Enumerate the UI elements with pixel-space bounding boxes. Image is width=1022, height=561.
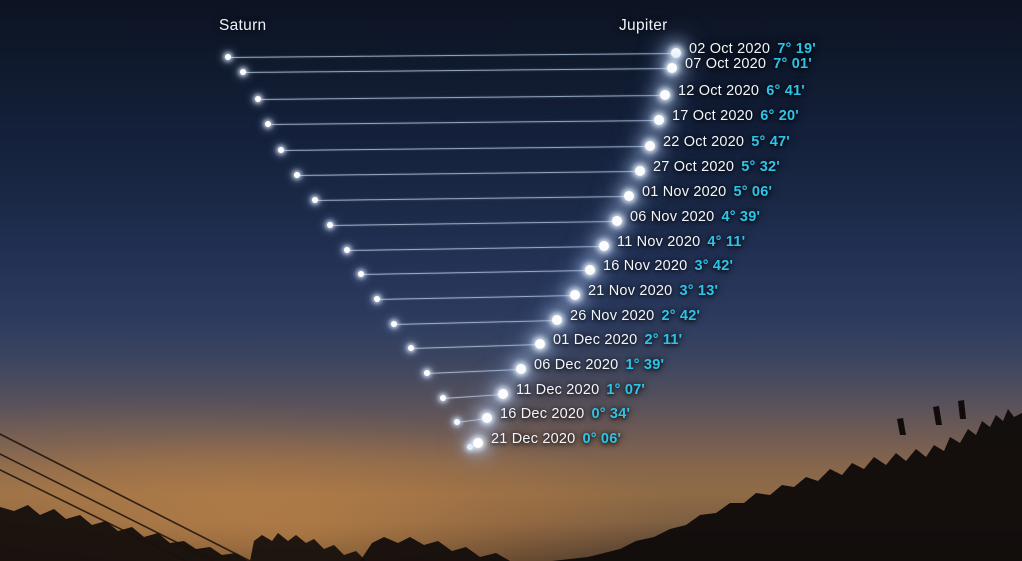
angular-separation: 2° 11' bbox=[644, 332, 682, 348]
observation-label: 06 Dec 20201° 39' bbox=[534, 357, 664, 373]
jupiter-marker bbox=[473, 438, 483, 448]
observation-label: 01 Dec 20202° 11' bbox=[553, 332, 682, 348]
observation-date: 22 Oct 2020 bbox=[663, 134, 744, 150]
jupiter-marker bbox=[635, 166, 645, 176]
connector-line bbox=[315, 196, 629, 201]
observation-label: 06 Nov 20204° 39' bbox=[630, 209, 760, 225]
observation-date: 12 Oct 2020 bbox=[678, 83, 759, 99]
saturn-marker bbox=[294, 172, 300, 178]
connector-line bbox=[377, 295, 575, 300]
jupiter-marker bbox=[667, 63, 677, 73]
angular-separation: 7° 01' bbox=[773, 56, 812, 72]
saturn-marker bbox=[255, 96, 261, 102]
angular-separation: 0° 06' bbox=[582, 431, 621, 447]
angular-separation: 5° 06' bbox=[733, 184, 772, 200]
jupiter-marker bbox=[585, 265, 595, 275]
observation-date: 07 Oct 2020 bbox=[685, 56, 766, 72]
connector-line bbox=[228, 53, 676, 58]
angular-separation: 4° 39' bbox=[721, 209, 760, 225]
saturn-marker bbox=[358, 271, 364, 277]
observation-date: 21 Nov 2020 bbox=[588, 283, 672, 299]
jupiter-marker bbox=[645, 141, 655, 151]
observation-date: 06 Dec 2020 bbox=[534, 357, 618, 373]
saturn-marker bbox=[374, 296, 380, 302]
jupiter-marker bbox=[612, 216, 622, 226]
jupiter-marker bbox=[671, 48, 681, 58]
connector-line bbox=[394, 320, 557, 325]
jupiter-marker bbox=[498, 389, 508, 399]
angular-separation: 5° 32' bbox=[741, 159, 780, 175]
jupiter-marker bbox=[482, 413, 492, 423]
angular-separation: 1° 07' bbox=[606, 382, 645, 398]
observation-date: 01 Dec 2020 bbox=[553, 332, 637, 348]
jupiter-marker bbox=[599, 241, 609, 251]
saturn-marker bbox=[454, 419, 460, 425]
saturn-marker bbox=[278, 147, 284, 153]
jupiter-marker bbox=[552, 315, 562, 325]
observation-label: 07 Oct 20207° 01' bbox=[685, 56, 812, 72]
observation-date: 26 Nov 2020 bbox=[570, 308, 654, 324]
sky-scene: Saturn Jupiter 02 Oct 20207° 19'07 Oct 2… bbox=[0, 0, 1022, 561]
connector-line bbox=[361, 270, 590, 275]
observation-date: 17 Oct 2020 bbox=[672, 108, 753, 124]
observation-label: 17 Oct 20206° 20' bbox=[672, 108, 799, 124]
jupiter-marker bbox=[660, 90, 670, 100]
observation-label: 21 Dec 20200° 06' bbox=[491, 431, 621, 447]
connector-line bbox=[347, 246, 604, 251]
observation-date: 27 Oct 2020 bbox=[653, 159, 734, 175]
angular-separation: 3° 13' bbox=[679, 283, 718, 299]
saturn-marker bbox=[240, 69, 246, 75]
observation-label: 11 Nov 20204° 11' bbox=[617, 234, 745, 250]
observation-date: 02 Oct 2020 bbox=[689, 41, 770, 57]
connector-line bbox=[330, 221, 617, 226]
jupiter-marker bbox=[535, 339, 545, 349]
observation-label: 26 Nov 20202° 42' bbox=[570, 308, 700, 324]
jupiter-marker bbox=[570, 290, 580, 300]
horizon-glow bbox=[0, 360, 1022, 561]
connector-line bbox=[281, 146, 650, 151]
saturn-marker bbox=[467, 444, 473, 450]
angular-separation: 4° 11' bbox=[707, 234, 745, 250]
observation-label: 27 Oct 20205° 32' bbox=[653, 159, 780, 175]
angular-separation: 5° 47' bbox=[751, 134, 790, 150]
angular-separation: 6° 20' bbox=[760, 108, 799, 124]
saturn-marker bbox=[440, 395, 446, 401]
angular-separation: 1° 39' bbox=[625, 357, 664, 373]
connector-line bbox=[443, 394, 503, 399]
jupiter-column-header: Jupiter bbox=[619, 17, 668, 35]
saturn-marker bbox=[424, 370, 430, 376]
connector-line bbox=[243, 68, 672, 73]
angular-separation: 7° 19' bbox=[777, 41, 816, 57]
connector-line bbox=[411, 344, 540, 349]
observation-date: 16 Nov 2020 bbox=[603, 258, 687, 274]
observation-label: 01 Nov 20205° 06' bbox=[642, 184, 772, 200]
angular-separation: 2° 42' bbox=[661, 308, 700, 324]
observation-date: 11 Dec 2020 bbox=[516, 382, 599, 398]
angular-separation: 3° 42' bbox=[694, 258, 733, 274]
observation-label: 22 Oct 20205° 47' bbox=[663, 134, 790, 150]
saturn-marker bbox=[391, 321, 397, 327]
observation-label: 21 Nov 20203° 13' bbox=[588, 283, 718, 299]
observation-label: 11 Dec 20201° 07' bbox=[516, 382, 645, 398]
saturn-marker bbox=[327, 222, 333, 228]
jupiter-marker bbox=[654, 115, 664, 125]
angular-separation: 0° 34' bbox=[591, 406, 630, 422]
jupiter-marker bbox=[516, 364, 526, 374]
observation-date: 01 Nov 2020 bbox=[642, 184, 726, 200]
observation-date: 21 Dec 2020 bbox=[491, 431, 575, 447]
connector-line bbox=[297, 171, 640, 176]
observation-date: 16 Dec 2020 bbox=[500, 406, 584, 422]
saturn-marker bbox=[265, 121, 271, 127]
observation-label: 16 Nov 20203° 42' bbox=[603, 258, 733, 274]
saturn-marker bbox=[344, 247, 350, 253]
saturn-marker bbox=[312, 197, 318, 203]
angular-separation: 6° 41' bbox=[766, 83, 805, 99]
connector-line bbox=[427, 369, 521, 374]
saturn-marker bbox=[408, 345, 414, 351]
observation-label: 16 Dec 20200° 34' bbox=[500, 406, 630, 422]
observation-date: 11 Nov 2020 bbox=[617, 234, 700, 250]
observation-label: 12 Oct 20206° 41' bbox=[678, 83, 805, 99]
observation-date: 06 Nov 2020 bbox=[630, 209, 714, 225]
connector-line bbox=[258, 95, 665, 100]
observation-label: 02 Oct 20207° 19' bbox=[689, 41, 816, 57]
jupiter-marker bbox=[624, 191, 634, 201]
saturn-marker bbox=[225, 54, 231, 60]
saturn-column-header: Saturn bbox=[219, 17, 266, 35]
connector-line bbox=[268, 120, 659, 125]
